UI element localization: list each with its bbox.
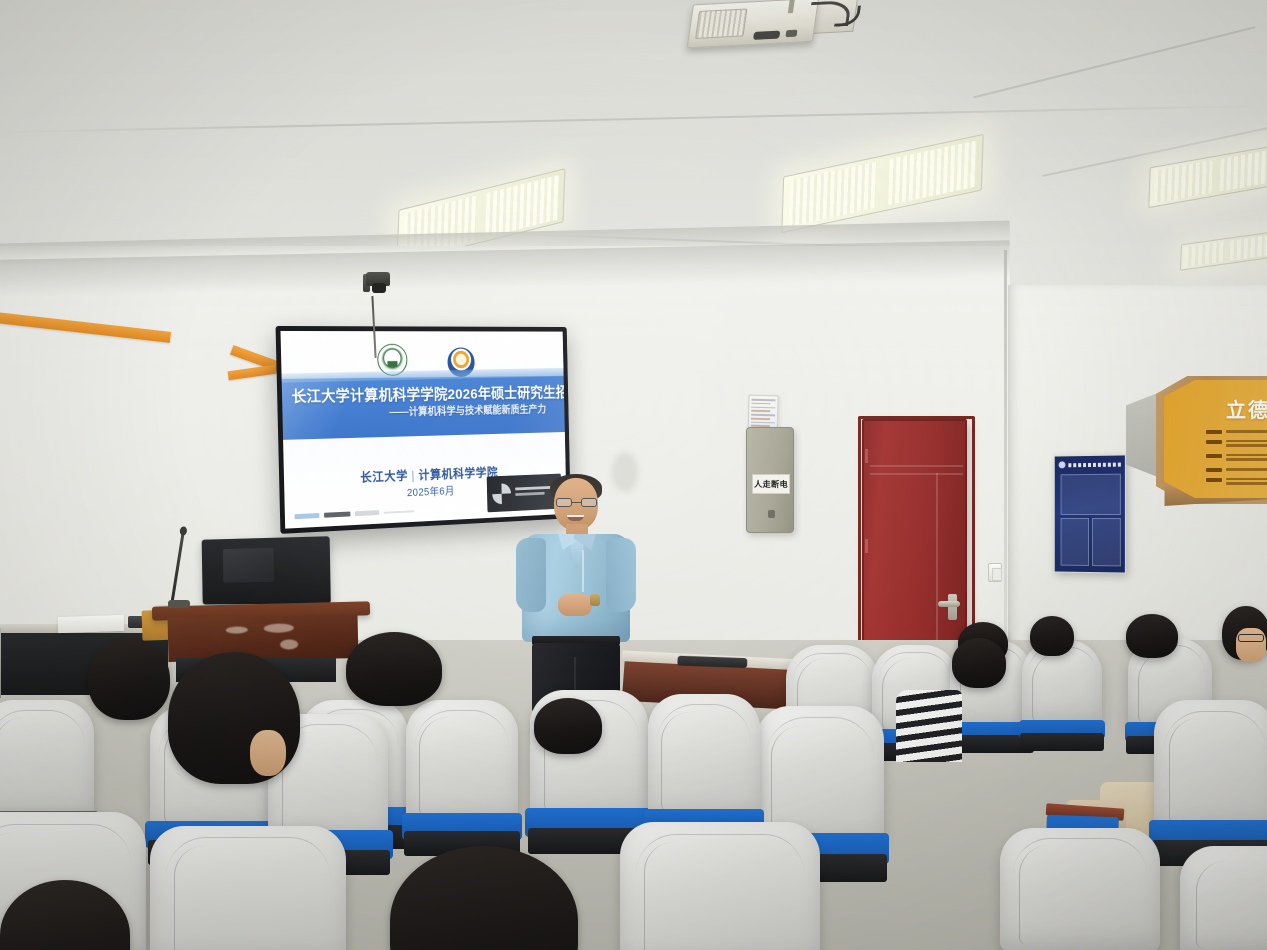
student-face [250, 730, 286, 776]
lectern-body [168, 614, 359, 662]
student-torso-striped [896, 690, 962, 762]
student-head [534, 698, 602, 754]
presenter-arm-right [606, 538, 636, 612]
door-panel-line [936, 473, 938, 645]
slide-university-name: 长江大学 [360, 469, 408, 484]
ceiling-projector [686, 0, 860, 56]
lectern-scuff [280, 639, 298, 649]
door-panel-line [870, 473, 963, 475]
electrical-power-box: 人走断电 [746, 427, 794, 533]
hex-board-row [1206, 454, 1267, 463]
qr-code-icon [492, 483, 511, 504]
student-head [1126, 614, 1178, 658]
projector-knob [785, 30, 797, 38]
camera-lens-icon [372, 283, 386, 293]
classroom-door[interactable] [862, 419, 967, 649]
presenter-arm-left [516, 538, 546, 612]
chair[interactable] [1000, 828, 1160, 950]
shirt-collar [574, 534, 596, 550]
power-box-lock-icon [768, 510, 775, 518]
presenter [510, 478, 640, 708]
chair[interactable] [648, 694, 760, 820]
lectern-scuff [264, 623, 294, 633]
wall-poster-blue [1054, 454, 1126, 573]
slide-decorative-bars [294, 508, 414, 519]
shirt-placket [582, 550, 584, 592]
door-panel-line [870, 465, 963, 467]
poster-pane [1061, 518, 1089, 566]
projector-body [687, 0, 819, 48]
chair[interactable] [1154, 700, 1267, 832]
door-hinge [865, 539, 868, 553]
power-box-label: 人走断电 [752, 474, 790, 494]
cabinet-frame [0, 628, 1, 698]
eyeglasses-icon [556, 498, 597, 508]
chair[interactable] [620, 822, 820, 950]
wristwatch [590, 594, 600, 606]
chair[interactable] [406, 700, 518, 824]
hex-board-row [1206, 440, 1267, 449]
wall-camera [363, 272, 393, 298]
papers-on-desk [58, 615, 125, 633]
door-frame [858, 416, 975, 654]
projector-vent [695, 8, 747, 38]
student-head [952, 638, 1006, 688]
hex-board-title: 立德树人 [1226, 394, 1267, 423]
lectern-monitor[interactable] [202, 536, 331, 604]
chair[interactable] [150, 826, 346, 950]
hex-board-text-rows [1206, 430, 1267, 492]
door-handle[interactable] [938, 601, 960, 607]
classroom-presentation-photo: 长江大学计算机科学学院2026年硕士研究生招生宣传 ——计算机科学与技术赋能新质… [0, 0, 1267, 950]
hex-board-face: 立德树人 [1164, 380, 1267, 498]
chair[interactable] [0, 700, 94, 822]
poster-header [1059, 460, 1121, 470]
poster-pane [1092, 518, 1121, 566]
poster-pane [1061, 474, 1121, 515]
door-lock-plate [948, 594, 957, 620]
microphone-base [168, 600, 190, 608]
projector-lens [753, 31, 780, 40]
lectern-scuff [226, 626, 248, 633]
hex-board-row [1206, 468, 1267, 473]
student-head [346, 632, 442, 706]
poster-header-text [1068, 462, 1120, 467]
door-hinge [865, 449, 868, 463]
hex-board-row [1206, 430, 1267, 435]
slide-title-band: 长江大学计算机科学学院2026年硕士研究生招生宣传 ——计算机科学与技术赋能新质… [282, 376, 565, 440]
eyeglasses-icon [1238, 634, 1264, 642]
chair[interactable] [1180, 846, 1267, 950]
student-head [1030, 616, 1074, 656]
light-switch[interactable] [988, 563, 1002, 582]
hexagon-wall-board: 立德树人 [1148, 372, 1267, 512]
presenter-hands [558, 594, 592, 616]
student-head [88, 638, 170, 720]
hex-board-row [1206, 478, 1267, 487]
poster-logo-icon [1059, 461, 1066, 468]
slide-separator: | [411, 469, 415, 483]
